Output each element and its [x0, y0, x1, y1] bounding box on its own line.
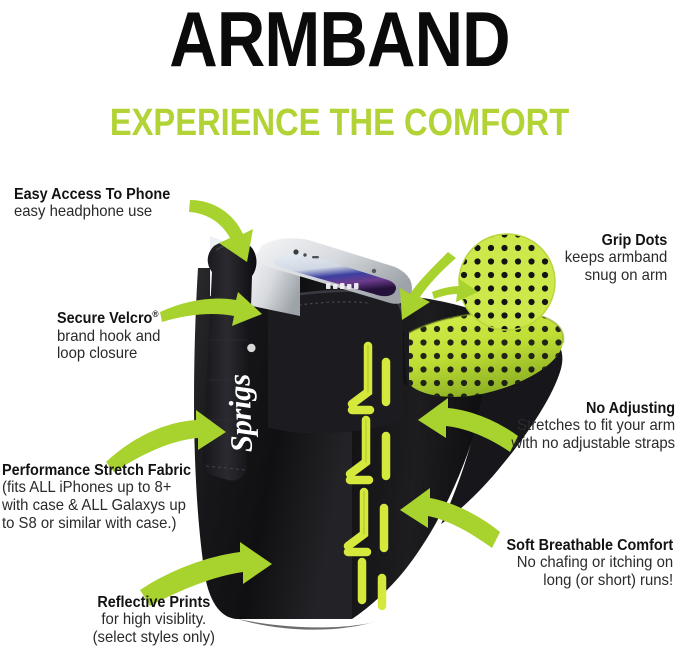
callout-line: to S8 or similar with case.) [2, 515, 191, 533]
callout-heading-text: Secure Velcro [57, 310, 152, 327]
arrow-easy-access [189, 200, 253, 262]
callout-line: loop closure [57, 345, 160, 363]
callout-easy-access: Easy Access To Phone easy headphone use [14, 186, 182, 221]
callout-line: No chafing or itching on [506, 554, 673, 572]
callout-heading: Grip Dots [564, 232, 667, 249]
callout-line: with no adjustable straps [511, 435, 675, 453]
registered-trademark-icon: ® [152, 309, 158, 319]
callout-line: long (or short) runs! [506, 572, 673, 590]
callout-heading: No Adjusting [511, 400, 675, 417]
callout-heading: Secure Velcro® [57, 309, 160, 328]
callout-heading: Reflective Prints [93, 594, 215, 611]
callout-reflective-prints: Reflective Prints for high visiblity. (s… [88, 594, 220, 647]
callout-line: with case & ALL Galaxys up [2, 497, 191, 515]
callout-heading: Easy Access To Phone [14, 186, 170, 203]
callout-line: (fits ALL iPhones up to 8+ [2, 479, 191, 497]
callout-line: keeps armband [564, 249, 667, 267]
callout-line: brand hook and [57, 328, 160, 346]
callout-soft-breathable-comfort: Soft Breathable Comfort No chafing or it… [494, 537, 673, 590]
infographic-canvas: ARMBAND EXPERIENCE THE COMFORT [0, 0, 679, 664]
callout-line: snug on arm [564, 267, 667, 285]
callout-line: for high visiblity. [93, 611, 215, 629]
arrow-soft-breathable [400, 488, 500, 548]
callout-secure-velcro: Secure Velcro® brand hook and loop closu… [57, 309, 168, 363]
callout-heading: Soft Breathable Comfort [506, 537, 673, 554]
callout-line: Stretches to fit your arm [511, 417, 675, 435]
callout-line: easy headphone use [14, 203, 170, 221]
callout-no-adjusting: No Adjusting Stretches to fit your arm w… [499, 400, 675, 453]
arrow-secure-velcro [160, 292, 262, 326]
callout-heading: Performance Stretch Fabric [2, 462, 191, 479]
callout-performance-stretch-fabric: Performance Stretch Fabric (fits ALL iPh… [2, 462, 205, 532]
arrow-grip-dots [432, 278, 478, 302]
callout-grip-dots: Grip Dots keeps armband snug on arm [557, 232, 667, 285]
arrow-pouch-opening [400, 252, 456, 320]
callout-line: (select styles only) [93, 629, 215, 647]
